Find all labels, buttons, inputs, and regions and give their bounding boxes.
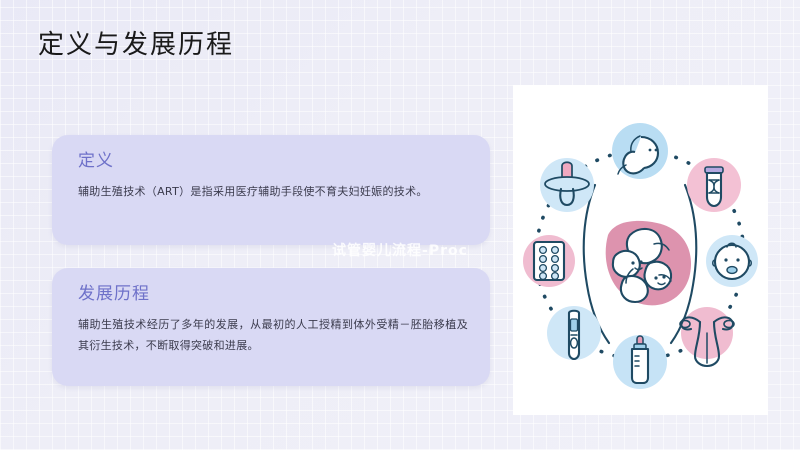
pregnant-belly-with-twins [584, 185, 697, 343]
pill-blister-icon [523, 235, 575, 287]
card-heading: 定义 [78, 149, 114, 173]
card-heading: 发展历程 [78, 282, 150, 306]
slide: 定义与发展历程 定义 辅助生殖技术（ART）是指采用医疗辅助手段使不育夫妇妊娠的… [0, 0, 800, 450]
fetus-icon [612, 123, 668, 179]
pacifier-icon [540, 158, 594, 212]
card-body-text: 辅助生殖技术经历了多年的发展，从最初的人工授精到体外受精－胚胎移植及其衍生技术，… [78, 314, 468, 356]
page-title: 定义与发展历程 [38, 28, 234, 62]
pregnancy-test-icon [547, 306, 601, 360]
content-card-definition[interactable]: 定义 辅助生殖技术（ART）是指采用医疗辅助手段使不育夫妇妊娠的技术。 [52, 135, 490, 245]
fertility-cycle-illustration: .ol{fill:none;stroke:#1f4a63;stroke-widt… [513, 85, 768, 415]
illustration-panel: .ol{fill:none;stroke:#1f4a63;stroke-widt… [513, 85, 768, 415]
dna-test-tube-icon [687, 158, 741, 212]
card-body-text: 辅助生殖技术（ART）是指采用医疗辅助手段使不育夫妇妊娠的技术。 [78, 181, 468, 202]
baby-bottle-icon [613, 335, 667, 389]
baby-face-icon [706, 235, 758, 287]
uterus-icon [680, 307, 734, 366]
content-card-history[interactable]: 发展历程 辅助生殖技术经历了多年的发展，从最初的人工授精到体外受精－胚胎移植及其… [52, 268, 490, 386]
